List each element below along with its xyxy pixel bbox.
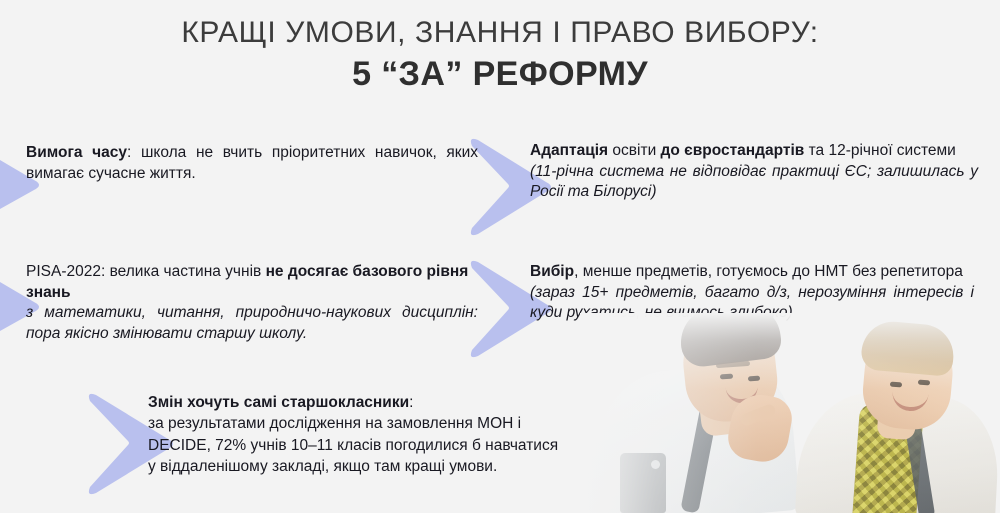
point-pisa-2022-note: з математики, читання, природничо-науков…	[26, 303, 478, 344]
student-b-shirt	[795, 390, 1000, 513]
title-line-2: 5 “ЗА” РЕФОРМУ	[0, 54, 1000, 95]
point-adaptacia-lead-mid: освіти	[608, 142, 660, 159]
point-vybir-lead-bold: Вибір	[530, 263, 574, 280]
student-a-fingers	[739, 403, 777, 428]
page-title: КРАЩІ УМОВИ, ЗНАННЯ І ПРАВО ВИБОРУ: 5 “З…	[0, 16, 1000, 94]
point-pisa-2022-lead: PISA-2022: велика частина учнів не досяг…	[26, 262, 478, 303]
student-a-eye-right	[748, 376, 760, 382]
point-vymoga-chasu: Вимога часу: школа не вчить пріоритетних…	[26, 143, 478, 184]
point-adaptacia-note: (11-річна система не відповідає практиці…	[530, 162, 978, 203]
point-zmin-body-line-3: у віддаленішому закладі, якщо там кращі …	[148, 456, 616, 477]
student-a-clasped-hands	[725, 390, 796, 465]
student-b-eye-right	[918, 380, 930, 386]
student-b-neck	[877, 396, 918, 441]
point-adaptacia-lead-bold2: до євростандартів	[661, 142, 805, 159]
point-zmin-lead: Змін хочуть самі старшокласники:	[148, 392, 616, 413]
point-adaptacia-lead-rest: та 12-річної системи	[804, 142, 956, 159]
infographic-slide: КРАЩІ УМОВИ, ЗНАННЯ І ПРАВО ВИБОРУ: 5 “З…	[0, 0, 1000, 513]
point-zmin-lead-rest: :	[409, 394, 413, 411]
point-zmin-lead-bold: Змін хочуть самі старшокласники	[148, 394, 409, 411]
point-vybir-lead-rest: , менше предметів, готуємось до НМТ без …	[574, 263, 963, 280]
point-pisa-2022: PISA-2022: велика частина учнів не досяг…	[26, 262, 478, 344]
point-vybir-note: (зараз 15+ предметів, багато д/з, нерозу…	[530, 283, 974, 324]
student-a-neck	[697, 385, 743, 438]
point-vymoga-chasu-lead-bold: Вимога часу	[26, 144, 127, 161]
point-vymoga-chasu-text: Вимога часу: школа не вчить пріоритетних…	[26, 143, 478, 184]
student-b-smile	[891, 391, 928, 412]
student-a-eye-left	[720, 374, 733, 380]
point-pisa-2022-lead-plain: PISA-2022: велика частина учнів	[26, 263, 266, 280]
desk-object	[620, 453, 666, 513]
title-line-1: КРАЩІ УМОВИ, ЗНАННЯ І ПРАВО ВИБОРУ:	[0, 16, 1000, 50]
point-adaptacia-lead-bold: Адаптація	[530, 142, 608, 159]
student-b-bag-strap	[905, 422, 936, 513]
student-b-hair	[860, 319, 956, 377]
student-b-eye-left	[890, 382, 902, 388]
student-a-face	[679, 313, 781, 426]
point-zmin-body-line-2: DECIDE, 72% учнів 10–11 класів погодилис…	[148, 435, 616, 456]
point-vybir: Вибір, менше предметів, готуємось до НМТ…	[530, 262, 974, 324]
point-zmin-body-line-1: за результатами дослідження на замовленн…	[148, 413, 616, 434]
point-vybir-lead: Вибір, менше предметів, готуємось до НМТ…	[530, 262, 974, 283]
point-adaptacia-lead: Адаптація освіти до євростандартів та 12…	[530, 141, 978, 162]
point-adaptacia: Адаптація освіти до євростандартів та 12…	[530, 141, 978, 203]
student-b-face	[860, 325, 956, 432]
student-a-bag-strap	[680, 388, 721, 513]
student-a-smile	[726, 385, 759, 404]
point-zmin-khochut: Змін хочуть самі старшокласники: за резу…	[148, 392, 616, 478]
student-a-brow	[716, 361, 750, 368]
student-b-vyshyvanka-embroidery	[852, 403, 924, 513]
